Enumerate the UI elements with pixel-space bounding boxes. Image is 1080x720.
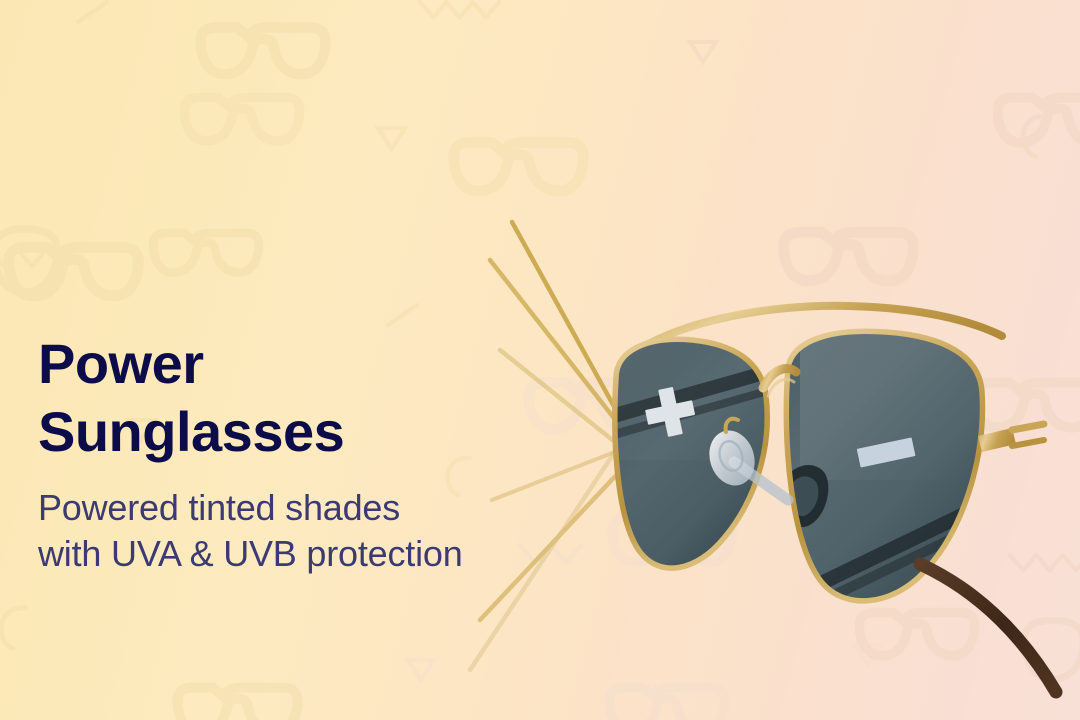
nose-bridge — [763, 369, 796, 388]
right-lens — [770, 320, 1080, 632]
promo-banner: Power Sunglasses Powered tinted shades w… — [0, 0, 1080, 720]
banner-copy: Power Sunglasses Powered tinted shades w… — [38, 330, 638, 577]
brow-bar — [638, 306, 1002, 350]
page-subtitle: Powered tinted shades with UVA & UVB pro… — [38, 485, 638, 577]
page-title: Power Sunglasses — [38, 330, 638, 467]
right-temple-arm — [920, 424, 1056, 692]
lens-symbols — [642, 384, 916, 468]
nose-pad — [702, 419, 788, 500]
plus-symbol — [642, 384, 699, 441]
minus-symbol — [857, 437, 916, 467]
